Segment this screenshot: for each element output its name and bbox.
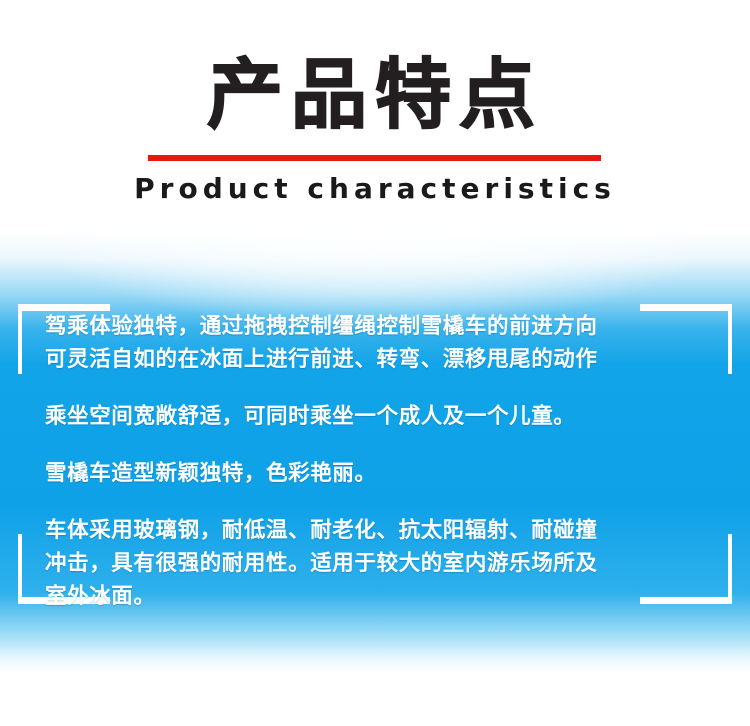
title-red-divider [148, 155, 601, 161]
bracket-corner-top-right-vertical [728, 304, 732, 374]
feature-list: 驾乘体验独特，通过拖拽控制缰绳控制雪橇车的前进方向 可灵活自如的在冰面上进行前进… [45, 310, 715, 613]
feature-item: 雪橇车造型新颖独特，色彩艳丽。 [45, 457, 715, 490]
feature-item: 车体采用玻璃钢，耐低温、耐老化、抗太阳辐射、耐碰撞 冲击，具有很强的耐用性。适用… [45, 514, 715, 613]
features-panel: 驾乘体验独特，通过拖拽控制缰绳控制雪橇车的前进方向 可灵活自如的在冰面上进行前进… [0, 232, 750, 672]
product-characteristics-banner: 产品特点 Product characteristics 驾乘体验独特，通过拖拽… [0, 0, 750, 726]
feature-item: 驾乘体验独特，通过拖拽控制缰绳控制雪橇车的前进方向 可灵活自如的在冰面上进行前进… [45, 310, 715, 376]
page-subtitle-english: Product characteristics [0, 170, 750, 208]
bracket-corner-top-left-vertical [18, 304, 22, 374]
bracket-corner-bottom-right-vertical [728, 534, 732, 604]
header-section: 产品特点 Product characteristics [0, 0, 750, 232]
bracket-corner-bottom-left-vertical [18, 534, 22, 604]
page-title-chinese: 产品特点 [0, 48, 750, 142]
feature-item: 乘坐空间宽敞舒适，可同时乘坐一个成人及一个儿童。 [45, 400, 715, 433]
